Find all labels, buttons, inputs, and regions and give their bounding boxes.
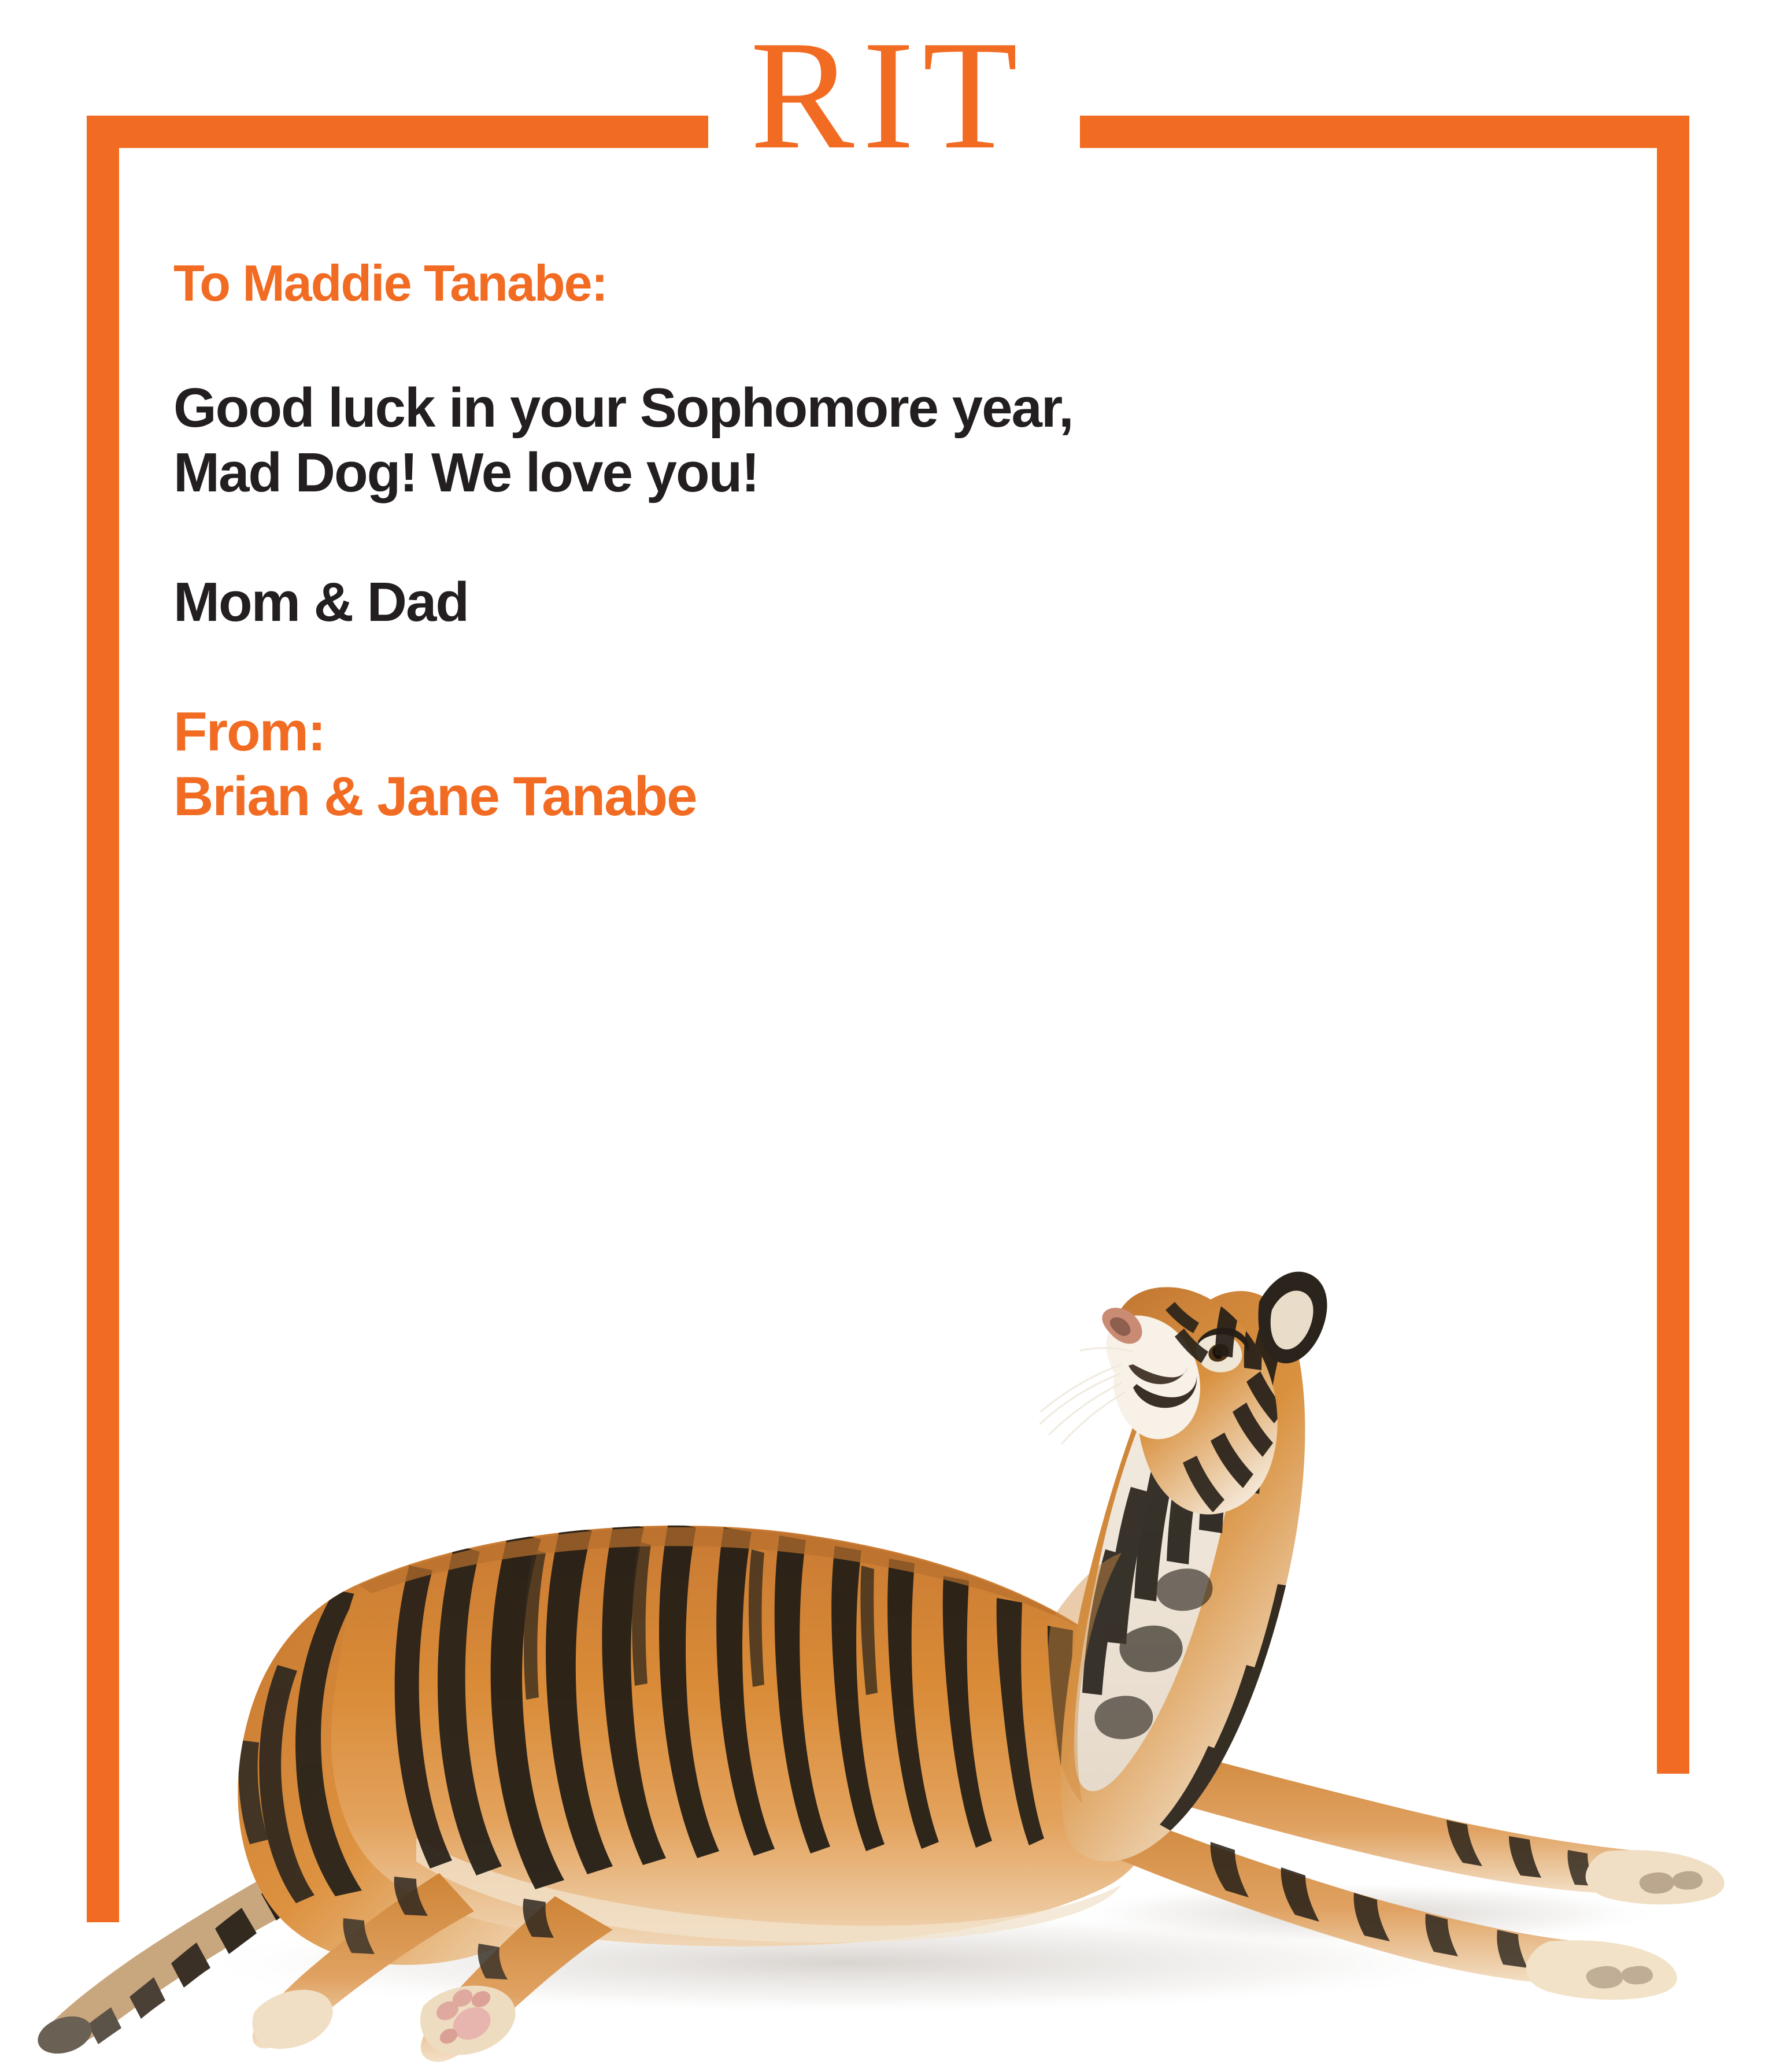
- paw-pad-group: [433, 1986, 496, 2047]
- frame-left-segment: [87, 116, 119, 1922]
- rit-logo-wordmark: RIT: [0, 17, 1776, 173]
- from-label: From:: [173, 700, 1561, 764]
- tiger-mascot-photo: [35, 1260, 1757, 2070]
- signature-line: Mom & Dad: [173, 570, 1561, 635]
- recipient-line: To Maddie Tanabe:: [173, 254, 1561, 312]
- message-block: To Maddie Tanabe: Good luck in your Soph…: [173, 254, 1561, 829]
- frame-right-segment: [1657, 116, 1689, 1774]
- tiger-body: [331, 1522, 1163, 1947]
- from-names: Brian & Jane Tanabe: [173, 764, 1561, 829]
- tiger-tail: [35, 1827, 358, 2060]
- tiger-neck: [1061, 1291, 1305, 1862]
- greeting-card: RIT To Maddie Tanabe: Good luck in your …: [0, 0, 1776, 2072]
- tiger-head: [1039, 1272, 1327, 1515]
- tiger-front-legs: [1070, 1733, 1725, 2000]
- tiger-haunch: [238, 1584, 555, 1965]
- spacer: [173, 312, 1561, 376]
- tiger-rear-paws: [253, 1873, 613, 2062]
- message-body-line-2: Mad Dog! We love you!: [173, 441, 1561, 505]
- spacer: [173, 505, 1561, 570]
- message-body-line-1: Good luck in your Sophomore year,: [173, 376, 1561, 441]
- spacer: [173, 635, 1561, 700]
